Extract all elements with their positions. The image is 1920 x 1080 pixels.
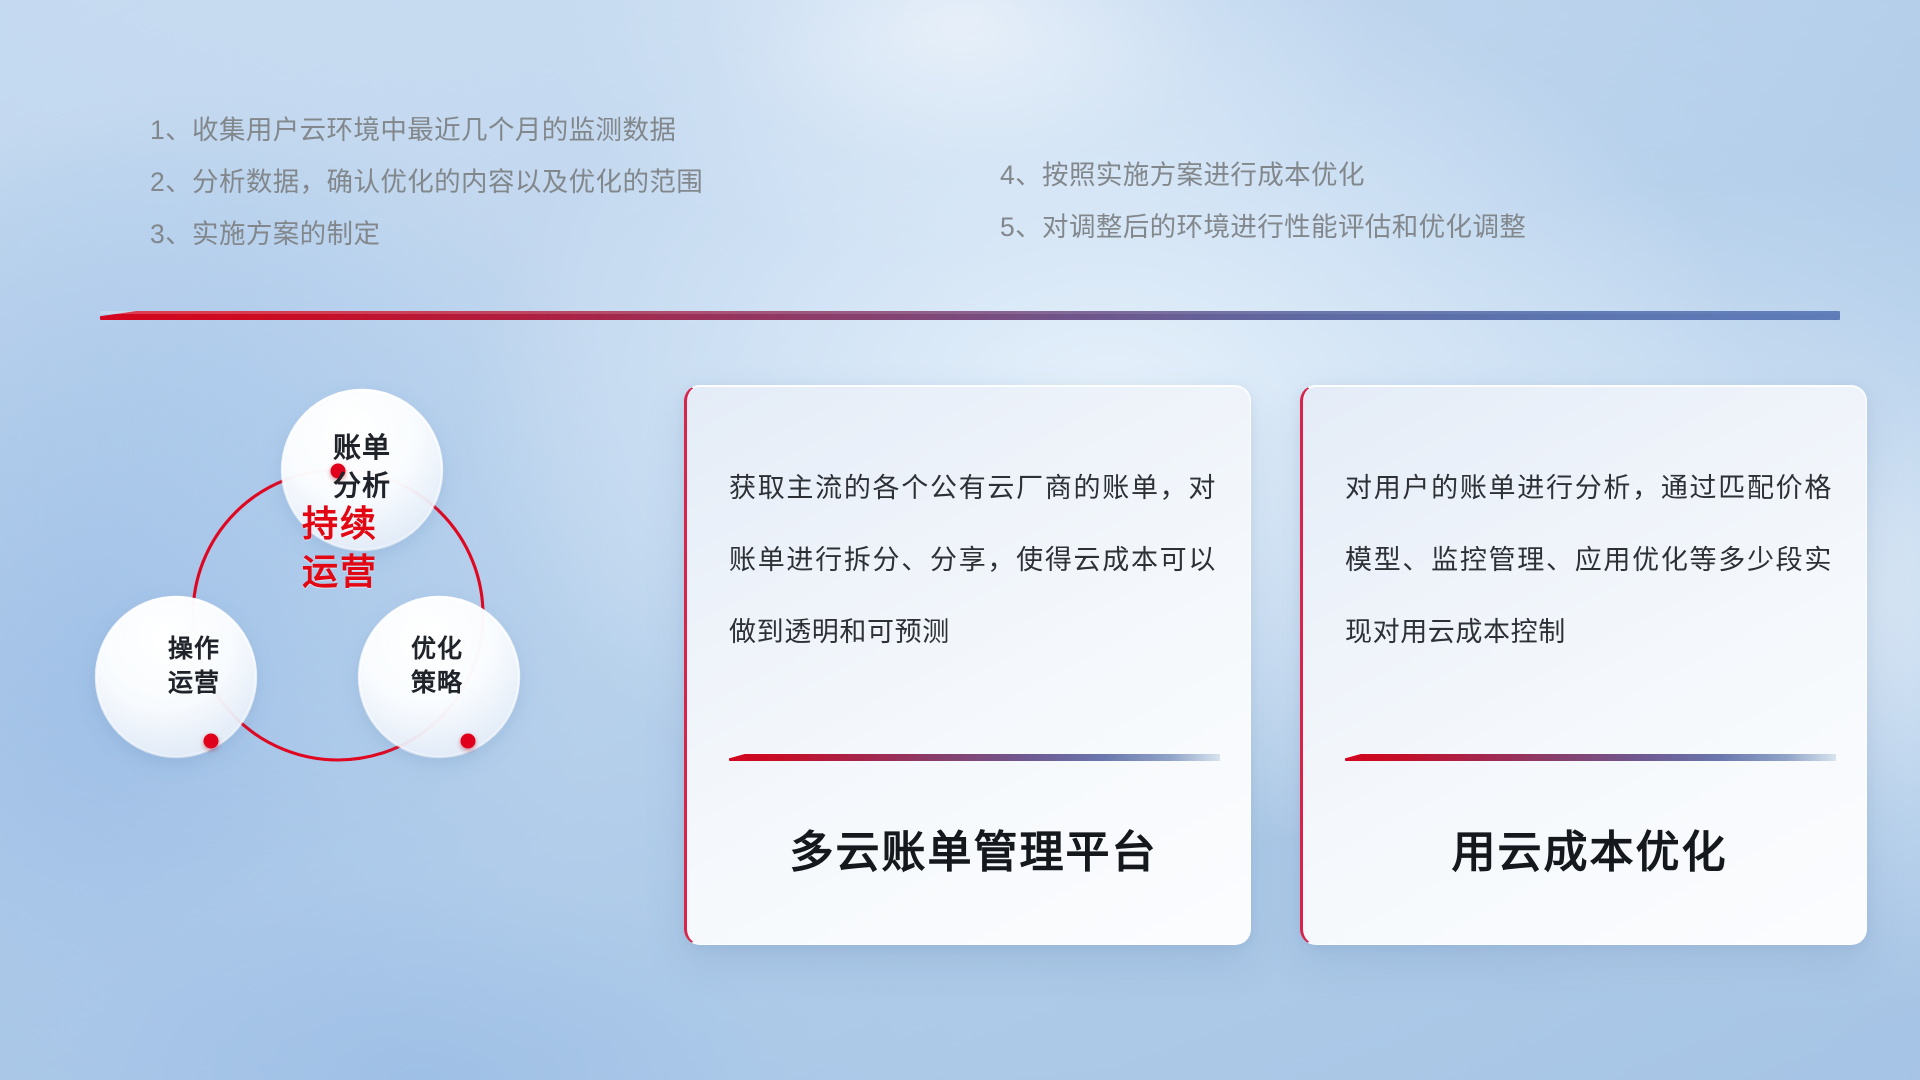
step-item-1: 1、收集用户云环境中最近几个月的监测数据 xyxy=(150,104,910,156)
card-multi-cloud-billing-platform[interactable]: 获取主流的各个公有云厂商的账单，对账单进行拆分、分享，使得云成本可以做到透明和可… xyxy=(684,385,1251,945)
step-item-2: 2、分析数据，确认优化的内容以及优化的范围 xyxy=(150,156,910,208)
diagram-dot-left xyxy=(204,734,219,749)
steps-column-left: 1、收集用户云环境中最近几个月的监测数据 2、分析数据，确认优化的内容以及优化的… xyxy=(150,104,910,260)
step-item-3: 3、实施方案的制定 xyxy=(150,208,910,260)
card-divider xyxy=(729,754,1220,761)
steps-column-right: 4、按照实施方案进行成本优化 5、对调整后的环境进行性能评估和优化调整 xyxy=(1000,149,1760,253)
section-divider-bar xyxy=(100,311,1840,320)
diagram-node-billing-analysis xyxy=(282,390,442,550)
diagram-dot-right xyxy=(461,734,476,749)
diagram-node-optimization-strategy xyxy=(359,597,519,757)
card-title: 多云账单管理平台 xyxy=(727,816,1220,880)
card-cloud-cost-optimization[interactable]: 对用户的账单进行分析，通过匹配价格模型、监控管理、应用优化等多少段实现对用云成本… xyxy=(1300,385,1867,945)
step-item-5: 5、对调整后的环境进行性能评估和优化调整 xyxy=(1000,201,1760,253)
card-title: 用云成本优化 xyxy=(1343,816,1836,880)
step-item-4: 4、按照实施方案进行成本优化 xyxy=(1000,149,1760,201)
continuous-operation-diagram: 账单 分析 操作 运营 优化 策略 持续 运营 xyxy=(80,355,600,915)
card-body-text: 获取主流的各个公有云厂商的账单，对账单进行拆分、分享，使得云成本可以做到透明和可… xyxy=(729,452,1216,668)
diagram-dot-top xyxy=(331,464,346,479)
steps-section: 1、收集用户云环境中最近几个月的监测数据 2、分析数据，确认优化的内容以及优化的… xyxy=(0,104,1920,284)
diagram-node-operations xyxy=(96,597,256,757)
diagram-svg xyxy=(80,355,600,915)
card-divider-gradient xyxy=(1345,754,1836,761)
slide-canvas: 1、收集用户云环境中最近几个月的监测数据 2、分析数据，确认优化的内容以及优化的… xyxy=(0,0,1920,1080)
card-divider xyxy=(1345,754,1836,761)
section-divider-sheen xyxy=(100,311,1840,314)
card-divider-gradient xyxy=(729,754,1220,761)
card-body-text: 对用户的账单进行分析，通过匹配价格模型、监控管理、应用优化等多少段实现对用云成本… xyxy=(1345,452,1832,668)
